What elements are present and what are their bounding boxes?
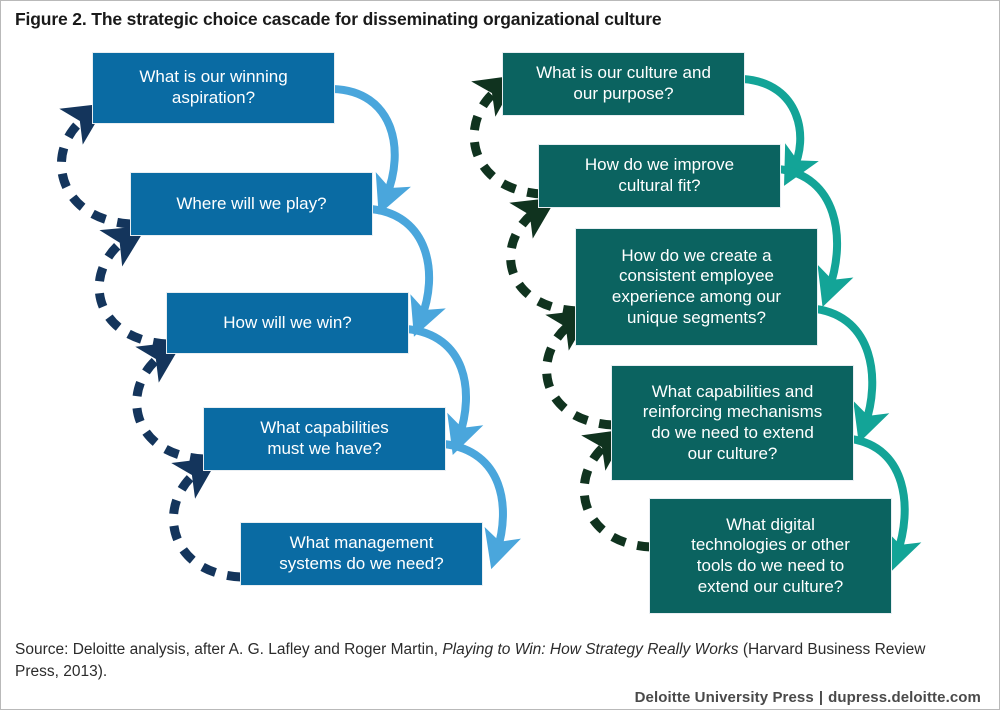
node-label: Where will we play? xyxy=(176,194,326,215)
brand-separator: | xyxy=(814,689,828,706)
node-label: What is our culture and our purpose? xyxy=(536,63,711,104)
node-consistent-employee-experience[interactable]: How do we create a consistent employee e… xyxy=(576,229,817,345)
node-improve-cultural-fit[interactable]: How do we improve cultural fit? xyxy=(539,145,780,207)
node-label: How will we win? xyxy=(223,313,351,334)
source-title: Playing to Win: How Strategy Really Work… xyxy=(442,641,738,658)
node-digital-technologies[interactable]: What digital technologies or other tools… xyxy=(650,499,891,613)
node-label: What is our winning aspiration? xyxy=(139,67,287,108)
node-culture-and-purpose[interactable]: What is our culture and our purpose? xyxy=(503,53,744,115)
source-prefix: Source: Deloitte analysis, after A. G. L… xyxy=(15,641,442,658)
node-what-capabilities[interactable]: What capabilities must we have? xyxy=(204,408,445,470)
figure-container: Figure 2. The strategic choice cascade f… xyxy=(0,0,1000,710)
node-label: How do we improve cultural fit? xyxy=(585,155,734,196)
node-winning-aspiration[interactable]: What is our winning aspiration? xyxy=(93,53,334,123)
node-label: How do we create a consistent employee e… xyxy=(612,246,781,329)
node-label: What capabilities and reinforcing mechan… xyxy=(643,382,823,465)
diagram-canvas: What is our winning aspiration? Where wi… xyxy=(1,39,1000,629)
node-label: What digital technologies or other tools… xyxy=(691,515,850,598)
node-how-will-we-win[interactable]: How will we win? xyxy=(167,293,408,353)
brand-name: Deloitte University Press xyxy=(635,689,814,706)
brand-line: Deloitte University Press|dupress.deloit… xyxy=(635,689,981,706)
figure-title: Figure 2. The strategic choice cascade f… xyxy=(15,9,975,31)
node-where-will-we-play[interactable]: Where will we play? xyxy=(131,173,372,235)
node-capabilities-reinforcing-mechanisms[interactable]: What capabilities and reinforcing mechan… xyxy=(612,366,853,480)
node-label: What management systems do we need? xyxy=(279,533,443,574)
source-note: Source: Deloitte analysis, after A. G. L… xyxy=(15,639,930,683)
node-label: What capabilities must we have? xyxy=(260,418,389,459)
brand-url[interactable]: dupress.deloitte.com xyxy=(828,689,981,706)
node-management-systems[interactable]: What management systems do we need? xyxy=(241,523,482,585)
